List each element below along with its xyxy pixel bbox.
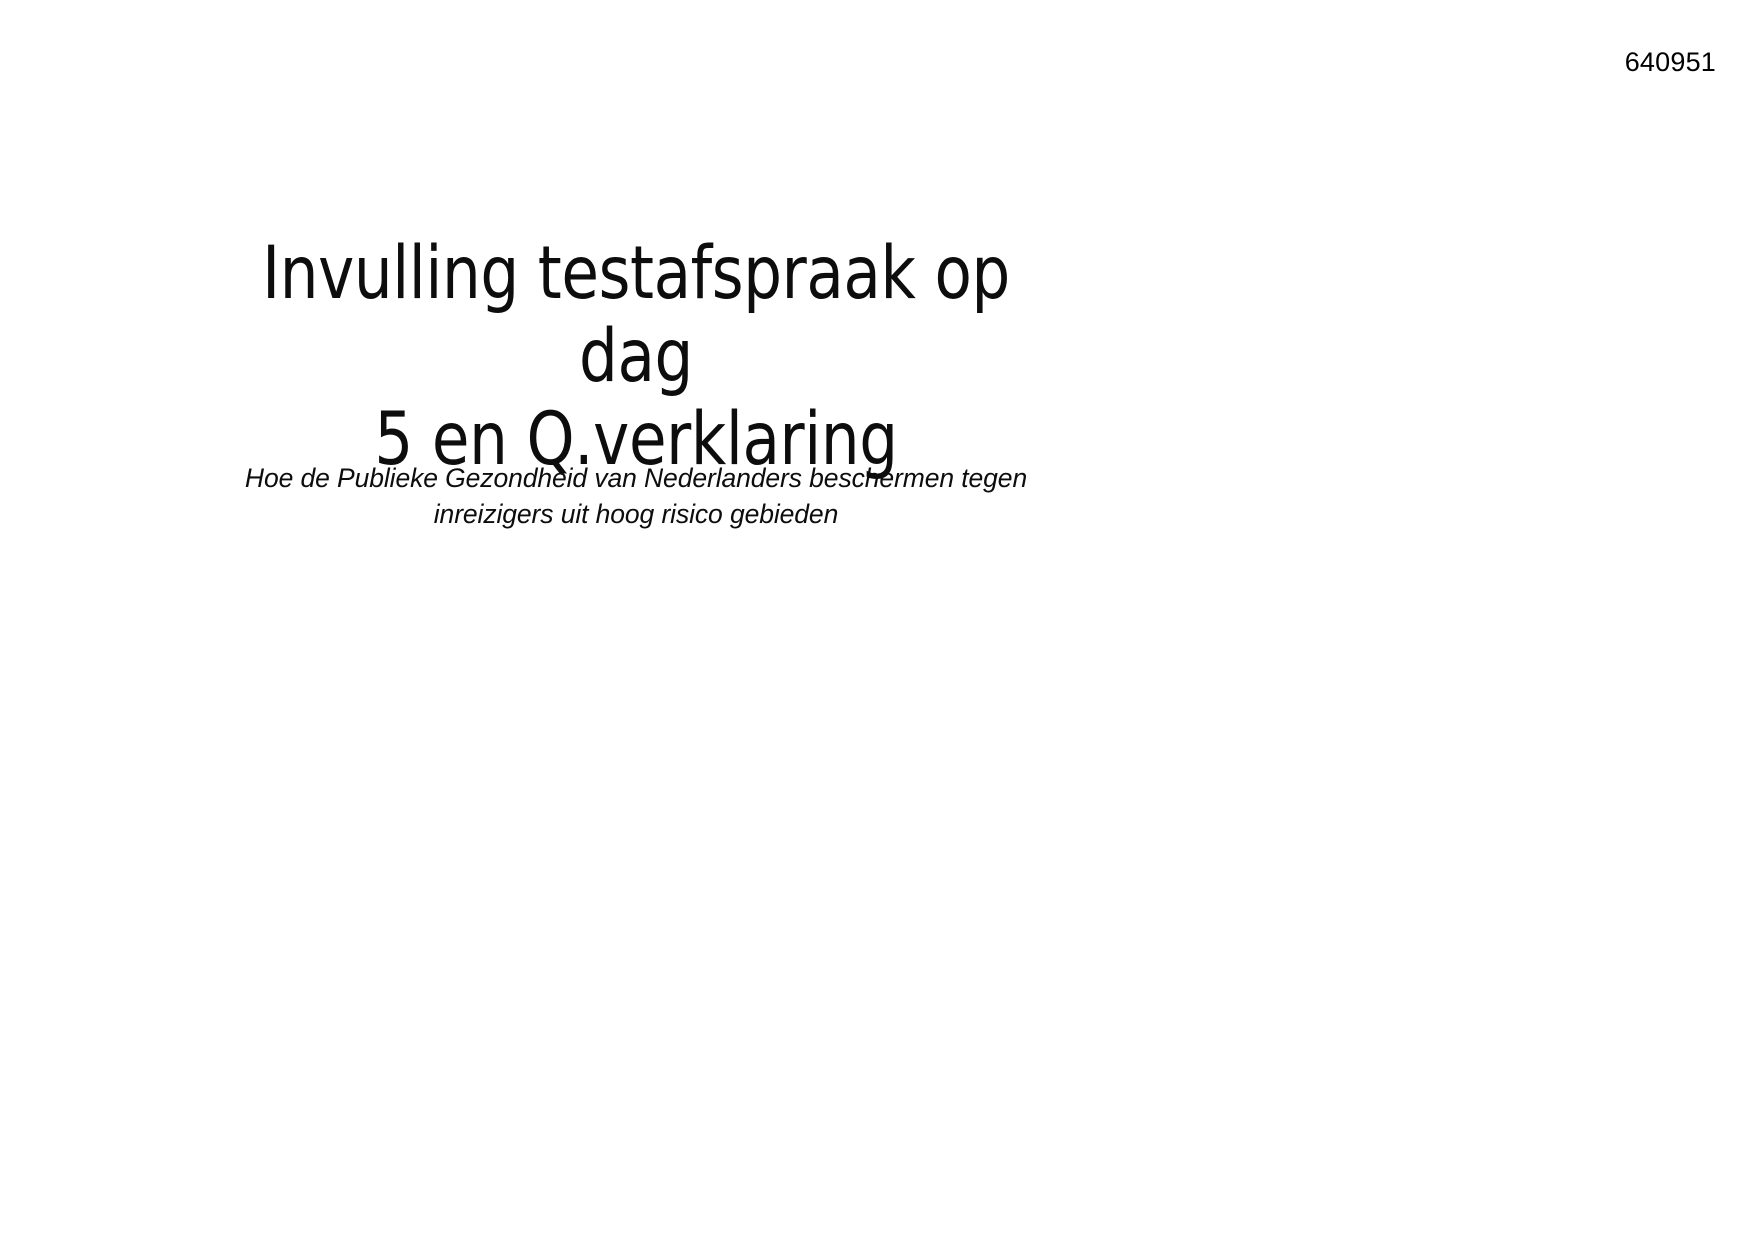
slide-page: 640951 Invulling testafspraak op dag 5 e…	[0, 0, 1754, 1241]
title-block: Invulling testafspraak op dag 5 en Q.ver…	[228, 232, 1044, 482]
page-number: 640951	[1625, 46, 1716, 78]
subtitle-block: Hoe de Publieke Gezondheid van Nederland…	[228, 460, 1044, 532]
page-subtitle: Hoe de Publieke Gezondheid van Nederland…	[228, 460, 1044, 532]
slide-content-area	[0, 600, 1754, 1241]
page-title: Invulling testafspraak op dag 5 en Q.ver…	[257, 232, 1016, 482]
